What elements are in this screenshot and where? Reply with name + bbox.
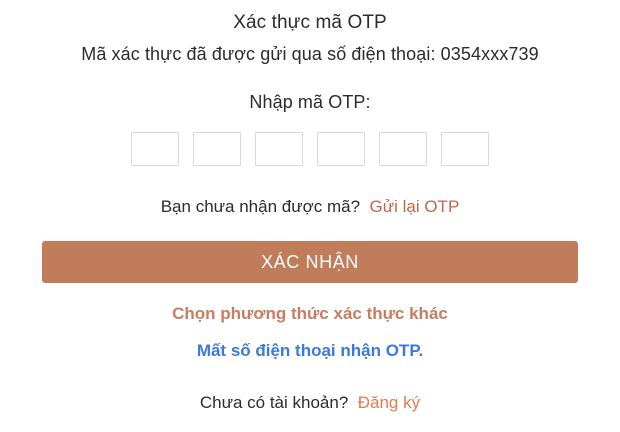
- register-question: Chưa có tài khoản?: [200, 393, 348, 412]
- otp-input-group: [131, 132, 489, 166]
- other-auth-method-link[interactable]: Chọn phương thức xác thực khác: [172, 303, 448, 325]
- otp-digit-input-2[interactable]: [193, 132, 241, 166]
- otp-sent-message: Mã xác thực đã được gửi qua số điện thoạ…: [81, 43, 539, 65]
- otp-digit-input-5[interactable]: [379, 132, 427, 166]
- register-row: Chưa có tài khoản? Đăng ký: [200, 392, 420, 414]
- otp-verification-screen: Xác thực mã OTP Mã xác thực đã được gửi …: [0, 0, 620, 432]
- resend-question: Bạn chưa nhận được mã?: [161, 197, 360, 216]
- otp-digit-input-3[interactable]: [255, 132, 303, 166]
- otp-digit-input-6[interactable]: [441, 132, 489, 166]
- page-title: Xác thực mã OTP: [233, 12, 387, 34]
- confirm-button[interactable]: XÁC NHẬN: [42, 241, 578, 283]
- otp-digit-input-4[interactable]: [317, 132, 365, 166]
- resend-otp-link[interactable]: Gửi lại OTP: [370, 197, 460, 216]
- lost-phone-link[interactable]: Mất số điện thoại nhận OTP.: [197, 340, 423, 362]
- enter-otp-label: Nhập mã OTP:: [249, 91, 370, 113]
- resend-row: Bạn chưa nhận được mã? Gửi lại OTP: [161, 196, 460, 218]
- register-link[interactable]: Đăng ký: [358, 393, 420, 412]
- otp-digit-input-1[interactable]: [131, 132, 179, 166]
